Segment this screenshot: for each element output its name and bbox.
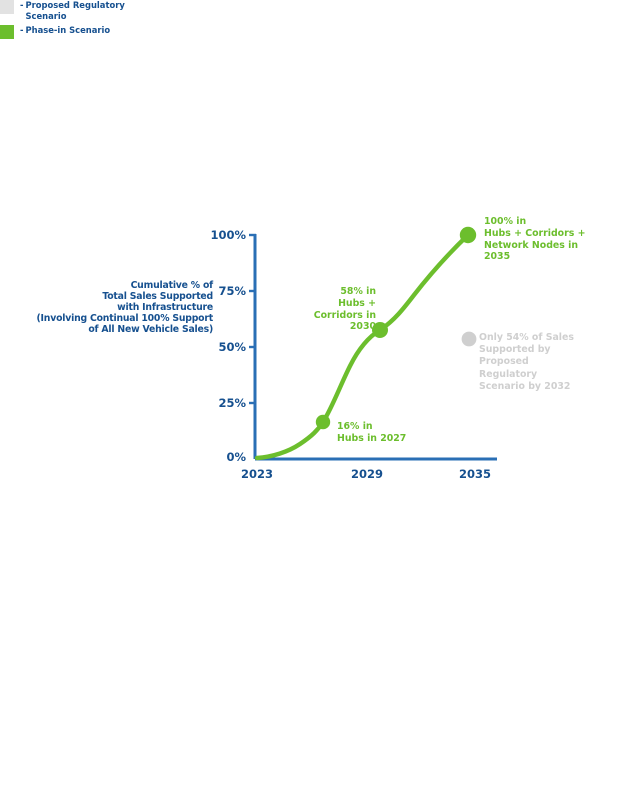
y-tick-label-100: 100% <box>201 228 246 242</box>
chart-container: Cumulative % of Total Sales Supported wi… <box>0 0 618 800</box>
annotation-2030-hubs-corridors: 58% in Hubs + Corridors in 2030 <box>300 286 376 333</box>
x-tick-label-2035: 2035 <box>447 467 503 481</box>
annotation-2027-hubs: 16% in Hubs in 2027 <box>337 421 432 445</box>
annotation-2035-hubs-corridors-network-nodes: 100% in Hubs + Corridors + Network Nodes… <box>484 216 612 263</box>
y-tick-label-0: 0% <box>201 450 246 464</box>
y-axis-title: Cumulative % of Total Sales Supported wi… <box>28 281 213 336</box>
y-tick-label-75: 75% <box>201 284 246 298</box>
y-tick-label-25: 25% <box>201 396 246 410</box>
data-point-proposed-regulatory-2032 <box>462 332 477 347</box>
annotation-proposed-regulatory-2032: Only 54% of Sales Supported by Proposed … <box>479 332 599 393</box>
chart-canvas <box>0 0 618 800</box>
x-tick-label-2029: 2029 <box>339 467 395 481</box>
data-point-2027 <box>316 415 330 429</box>
y-tick-label-50: 50% <box>201 340 246 354</box>
data-point-2035 <box>460 227 476 243</box>
x-tick-label-2023: 2023 <box>229 467 285 481</box>
